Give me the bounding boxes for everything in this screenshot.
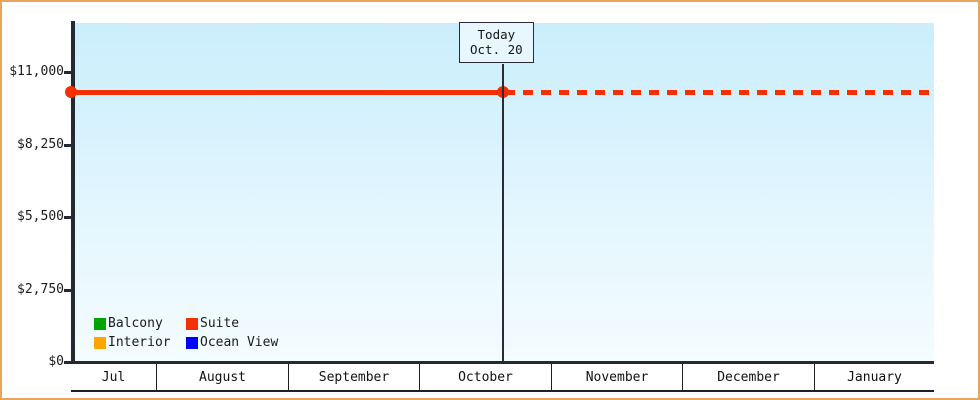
- today-callout-title: Today: [470, 27, 523, 42]
- legend-label-interior: Interior: [108, 335, 171, 350]
- month-cell-december[interactable]: December: [683, 364, 815, 390]
- x-axis-month-band: Jul August September October November De…: [71, 364, 934, 392]
- legend-label-balcony: Balcony: [108, 316, 163, 331]
- legend-label-ocean-view: Ocean View: [200, 335, 278, 350]
- legend-swatch-icon-interior: [94, 337, 106, 349]
- month-cell-october[interactable]: October: [420, 364, 552, 390]
- y-axis-label: $8,250: [2, 137, 64, 152]
- legend-item-balcony[interactable]: Balcony: [94, 314, 186, 333]
- y-label-5500-wrap: $5,500: [2, 209, 64, 225]
- legend-item-suite[interactable]: Suite: [186, 314, 278, 333]
- legend-swatch-icon-balcony: [94, 318, 106, 330]
- month-cell-september[interactable]: September: [289, 364, 420, 390]
- y-tick-2750: [64, 289, 72, 292]
- month-cell-august[interactable]: August: [157, 364, 289, 390]
- plot-area: [75, 23, 934, 362]
- legend-swatch-icon-suite: [186, 318, 198, 330]
- legend-item-interior[interactable]: Interior: [94, 333, 186, 352]
- y-axis-label: $2,750: [2, 282, 64, 297]
- y-label-8250-wrap: $8,250: [2, 137, 64, 153]
- legend: Balcony Suite Interior Ocean View: [94, 314, 278, 352]
- series-line-suite-forecast: [505, 90, 934, 95]
- y-tick-8250: [64, 144, 72, 147]
- series-line-suite-actual: [71, 90, 505, 95]
- y-axis-label: $11,000: [2, 64, 64, 79]
- y-axis-label: $5,500: [2, 209, 64, 224]
- y-tick-11000: [64, 71, 72, 74]
- today-callout-date: Oct. 20: [470, 42, 523, 57]
- today-marker-line: [502, 64, 504, 362]
- legend-swatch-icon-ocean-view: [186, 337, 198, 349]
- legend-label-suite: Suite: [200, 316, 239, 331]
- today-callout-box[interactable]: Today Oct. 20: [459, 22, 534, 63]
- y-axis-label: $0: [2, 354, 64, 369]
- y-label-0-wrap: $0: [2, 354, 64, 370]
- legend-item-ocean-view[interactable]: Ocean View: [186, 333, 278, 352]
- y-tick-5500: [64, 216, 72, 219]
- month-cell-jul[interactable]: Jul: [71, 364, 157, 390]
- y-label-2750-wrap: $2,750: [2, 282, 64, 298]
- chart-container: $11,000 $8,250 $5,500 $2,750 $0 Today Oc…: [0, 0, 980, 400]
- y-label-11000-wrap: $11,000: [2, 64, 64, 80]
- month-cell-november[interactable]: November: [552, 364, 683, 390]
- month-cell-january[interactable]: January: [815, 364, 934, 390]
- series-point-suite-start[interactable]: [65, 86, 77, 98]
